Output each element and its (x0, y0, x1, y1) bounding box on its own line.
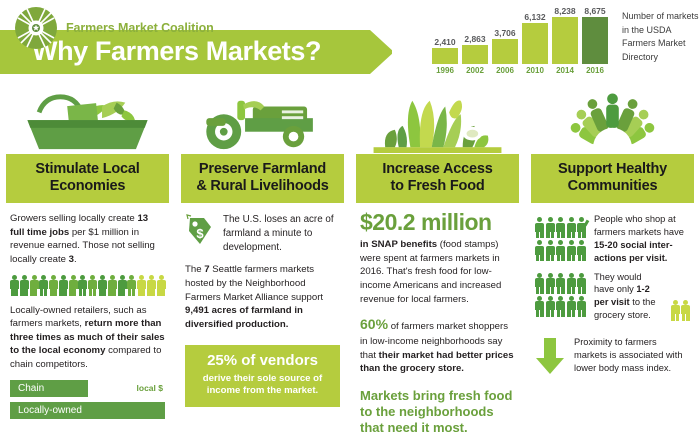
text-fragment: The (185, 264, 204, 275)
chain-vs-local-comparison: Chain local $ Locally-owned (10, 380, 165, 419)
bar-highlight (582, 17, 608, 64)
person-icon (30, 275, 38, 295)
column-heading: Support Healthy Communities (531, 154, 694, 203)
bar-group: 6,132 (522, 6, 548, 64)
column-heading: Increase Access to Fresh Food (356, 154, 519, 203)
bar-group: 3,706 (492, 6, 518, 64)
person-icon (546, 296, 555, 316)
people-row (535, 296, 586, 316)
svg-text:$: $ (196, 226, 204, 241)
text-fragment: They would have only (594, 272, 642, 295)
heading-line-2: to Fresh Food (390, 178, 484, 194)
bar-locally-owned: Locally-owned (10, 402, 165, 419)
person-icon (39, 275, 47, 295)
heading-line-1: Support Healthy (558, 161, 667, 177)
people-pictogram-group (535, 213, 586, 260)
person-icon (20, 275, 28, 295)
person-icon (546, 217, 555, 237)
person-icon-light (671, 300, 680, 320)
brand-name: Farmers Market Coalition (66, 21, 214, 35)
callout-headline: 25% of vendors (191, 353, 334, 370)
person-icon (567, 296, 576, 316)
person-icon (127, 275, 135, 295)
bmi-block: Proximity to farmers markets is associat… (535, 336, 690, 376)
grocery-basket-icon (10, 92, 165, 154)
person-icon (577, 240, 586, 260)
bar (432, 48, 458, 64)
person-icon (59, 275, 67, 295)
acre-loss-block: $ The U.S. loses an acre of farmland a m… (185, 213, 340, 254)
person-icon (556, 296, 565, 316)
bar-value-label: 8,238 (554, 6, 575, 16)
text-emphasis: 15-20 social inter-actions per visit. (594, 240, 673, 263)
vendors-callout: 25% of vendors derive their sole source … (185, 345, 340, 406)
jobs-people-pictogram (10, 275, 165, 295)
bar-value-label: 2,410 (434, 37, 455, 47)
person-icon (108, 275, 116, 295)
text-fragment: People who shop at farmers markets have (594, 214, 684, 237)
person-icon-waving (577, 217, 586, 237)
column-heading: Stimulate Local Economies (6, 154, 169, 203)
column-support-healthy-communities: Support Healthy Communities (525, 92, 700, 444)
text-emphasis: in SNAP benefits (360, 239, 437, 250)
person-icon (556, 240, 565, 260)
person-icon-light (681, 300, 690, 320)
bar-group: 2,863 (462, 6, 488, 64)
person-icon-light (147, 275, 155, 295)
people-row (671, 300, 691, 320)
price-tag-dollar-icon: $ (185, 213, 215, 247)
brand-row: Farmers Market Coalition (14, 6, 214, 50)
person-icon (69, 275, 77, 295)
people-row (535, 273, 586, 293)
x-tick-label: 2014 (552, 66, 578, 75)
bar-value-label: 2,863 (464, 34, 485, 44)
better-prices-paragraph: 60% of farmers market shoppers in low-in… (360, 315, 515, 376)
bmi-text: Proximity to farmers markets is associat… (574, 336, 690, 374)
person-icon (78, 275, 86, 295)
radial-people-burst-icon (535, 92, 690, 154)
retailers-paragraph: Locally-owned retailers, such as farmers… (10, 304, 165, 372)
bar (462, 45, 488, 64)
social-interactions-block: People who shop at farmers markets have … (535, 213, 690, 264)
person-icon (10, 275, 18, 295)
chart-caption: Number of markets in the USDA Farmers Ma… (622, 6, 700, 84)
heading-line-1: Preserve Farmland (199, 161, 326, 177)
social-interactions-text: People who shop at farmers markets have … (594, 213, 690, 264)
page-header: Farmers Market Coalition Why Farmers Mar… (0, 0, 700, 92)
callout-subtext: derive their sole source of income from … (191, 373, 334, 398)
person-icon-light (137, 275, 145, 295)
chart-plot-area: 2,410 2,863 3,706 6,132 8,238 (432, 6, 612, 84)
person-icon (535, 240, 544, 260)
person-icon (49, 275, 57, 295)
local-dollar-label: local $ (137, 383, 163, 393)
person-icon (567, 217, 576, 237)
person-icon (98, 275, 106, 295)
stat-60-percent: 60% (360, 316, 388, 332)
text-emphasis: 9,491 acres of farmland in diversified p… (185, 305, 303, 330)
person-icon (535, 217, 544, 237)
heading-line-2: & Rural Livelihoods (196, 178, 328, 194)
down-arrow-icon (535, 336, 565, 376)
chart-bars: 2,410 2,863 3,706 6,132 8,238 (432, 6, 612, 64)
seattle-markets-paragraph: The 7 Seattle farmers markets hosted by … (185, 263, 340, 331)
people-row (535, 240, 586, 260)
person-icon (556, 217, 565, 237)
bar-value-label: 6,132 (524, 12, 545, 22)
snap-benefits-paragraph: in SNAP benefits (food stamps) were spen… (360, 238, 515, 306)
jobs-paragraph: Growers selling locally create 13 full t… (10, 212, 165, 266)
bar-group: 2,410 (432, 6, 458, 64)
bar-value-label: 3,706 (494, 28, 515, 38)
bar (552, 17, 578, 64)
heading-line-1: Stimulate Local (35, 161, 139, 177)
person-icon-light (157, 275, 165, 295)
x-tick-label: 2002 (462, 66, 488, 75)
grocery-store-text: They would have only 1-2 per visit to th… (594, 271, 663, 322)
bar-group: 8,238 (552, 6, 578, 64)
people-row (535, 217, 586, 237)
leafy-vegetables-icon (360, 92, 515, 154)
person-icon (556, 273, 565, 293)
x-tick-label: 2006 (492, 66, 518, 75)
column-stimulate-local-economies: Stimulate Local Economies Growers sellin… (0, 92, 175, 444)
person-icon (118, 275, 126, 295)
bar-chain: Chain (10, 380, 88, 397)
closing-statement: Markets bring fresh food to the neighbor… (360, 388, 515, 437)
x-tick-label: 2010 (522, 66, 548, 75)
text-fragment: Growers selling locally create (10, 213, 137, 224)
person-icon (546, 240, 555, 260)
x-tick-label: 2016 (582, 66, 608, 75)
person-icon (535, 273, 544, 293)
heading-line-1: Increase Access (382, 161, 492, 177)
content-columns: Stimulate Local Economies Growers sellin… (0, 92, 700, 444)
snap-benefits-amount: $20.2 million (360, 211, 515, 234)
heading-line-2: Economies (50, 178, 126, 194)
x-tick-label: 1996 (432, 66, 458, 75)
acre-loss-text: The U.S. loses an acre of farmland a min… (223, 213, 340, 254)
column-preserve-farmland: Preserve Farmland & Rural Livelihoods $ … (175, 92, 350, 444)
bar (492, 39, 518, 64)
people-pictogram-group (535, 271, 586, 316)
person-icon (567, 273, 576, 293)
column-heading: Preserve Farmland & Rural Livelihoods (181, 154, 344, 203)
pinwheel-circle-logo-icon (14, 6, 58, 50)
tractor-icon (185, 92, 340, 154)
person-icon (88, 275, 96, 295)
chart-x-axis-labels: 1996 2002 2006 2010 2014 2016 (432, 66, 612, 75)
people-pictogram-pair (671, 292, 691, 322)
markets-growth-chart: 2,410 2,863 3,706 6,132 8,238 (432, 6, 700, 84)
bar-value-label: 8,675 (584, 6, 605, 16)
column-increase-access: Increase Access to Fresh Food $20.2 mill… (350, 92, 525, 444)
person-icon (577, 296, 586, 316)
person-icon (535, 296, 544, 316)
person-icon (567, 240, 576, 260)
heading-line-2: Communities (568, 178, 658, 194)
text-fragment: . (74, 254, 77, 265)
text-emphasis: their market had better prices than the … (360, 350, 514, 375)
person-icon (546, 273, 555, 293)
grocery-store-block: They would have only 1-2 per visit to th… (535, 271, 690, 322)
bar (522, 23, 548, 64)
bar-group: 8,675 (582, 6, 608, 64)
person-icon (577, 273, 586, 293)
